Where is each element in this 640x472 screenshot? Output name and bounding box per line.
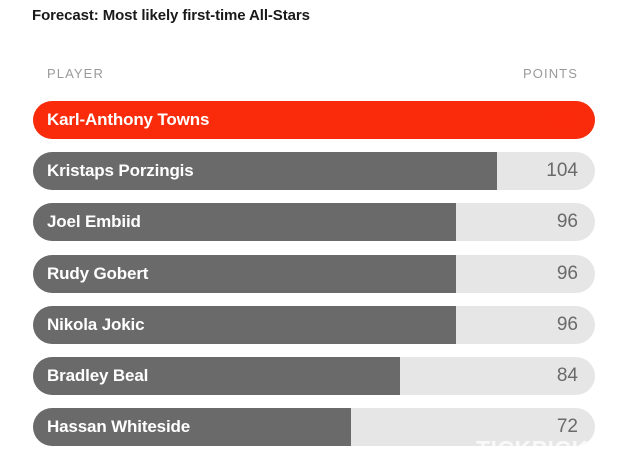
table-row[interactable]: Rudy Gobert96 (33, 255, 595, 293)
chart-container: Forecast: Most likely first-time All-Sta… (0, 0, 640, 472)
page-title: Forecast: Most likely first-time All-Sta… (32, 7, 310, 24)
column-header-points: POINTS (523, 66, 578, 81)
bar-label: Nikola Jokic (47, 306, 144, 344)
bar-value: 96 (557, 203, 578, 241)
bar-value: 108 (546, 101, 578, 139)
column-header-player: PLAYER (47, 66, 104, 81)
table-row[interactable]: Bradley Beal84 (33, 357, 595, 395)
table-row[interactable]: Kristaps Porzingis104 (33, 152, 595, 190)
bar-value: 96 (557, 306, 578, 344)
bar-value: 104 (546, 152, 578, 190)
bar-label: Kristaps Porzingis (47, 152, 194, 190)
table-row[interactable]: Joel Embiid96 (33, 203, 595, 241)
table-row[interactable]: Nikola Jokic96 (33, 306, 595, 344)
bar-value: 96 (557, 255, 578, 293)
table-row[interactable]: Karl-Anthony Towns108 (33, 101, 595, 139)
bar-label: Bradley Beal (47, 357, 148, 395)
bar-value: 84 (557, 357, 578, 395)
bar-label: Joel Embiid (47, 203, 141, 241)
bar-value: 72 (557, 408, 578, 446)
bar-label: Rudy Gobert (47, 255, 148, 293)
table-row[interactable]: Hassan Whiteside72 (33, 408, 595, 446)
bar-label: Karl-Anthony Towns (47, 101, 209, 139)
bar-label: Hassan Whiteside (47, 408, 190, 446)
